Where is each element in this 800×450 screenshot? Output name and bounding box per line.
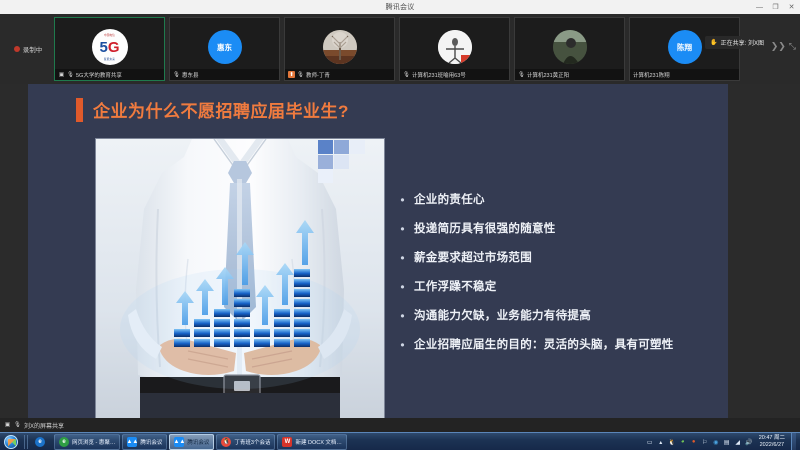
taskbar-item-ie-pinned[interactable]: e [31,434,52,450]
avatar [438,30,472,64]
wps-icon: W [282,437,292,447]
avatar [323,30,357,64]
volume-icon[interactable]: 🔊 [745,438,753,446]
participant-footer: 计算机231陈翔 [630,69,739,80]
meeting-icon: ▲▲ [174,437,184,447]
bullet-text: 投递简历具有很强的随意性 [414,221,556,238]
avatar: 惠东 [208,30,242,64]
participant-tile[interactable]: 🎙 计算机231班喻用63号 [399,17,510,81]
meeting-icon: ▲▲ [127,437,137,447]
participant-name: 惠东县 [182,71,199,79]
decor-square [318,155,333,169]
decor-square [318,140,333,154]
title-accent-bar [76,98,83,122]
participant-footer: 🎙 惠东县 [170,69,279,80]
hand-icon: ✋ [710,39,717,46]
participant-footer: ⬆ 🎙 教师-丁青 [285,69,394,80]
participant-name: 5G大学的教育共享 [76,71,122,79]
bullet-text: 工作浮躁不稳定 [414,279,497,296]
taskbar-item-meeting[interactable]: ▲▲ 腾讯会议 [122,434,167,450]
close-button[interactable]: ✕ [787,4,796,11]
person-photo [553,30,587,64]
bullet-text: 薪金要求超过市场范围 [414,250,532,267]
list-item: • 投递简历具有很强的随意性 [400,221,710,238]
maximize-button[interactable]: ❐ [771,4,780,11]
sync-icon[interactable]: ◉ [712,438,720,446]
list-item: • 企业招聘应届生的目的：灵活的头脑，具有可塑性 [400,337,710,354]
participant-footer: ▣ 🎙 5G大学的教育共享 [55,69,164,80]
video-icon: ▣ [4,422,11,429]
taskbar-item-qq[interactable]: 🐧 丁青班3个会话 [216,434,275,450]
taskbar-item-label: 网页浏览 - 惠聚… [72,438,115,446]
recording-indicator: 录制中 [2,16,54,82]
share-status-bar: ▣ 🎙 刘X的屏幕共享 [0,418,800,432]
window-title: 腾讯会议 [386,2,415,12]
person-photo [438,30,472,64]
bullet-dot-icon: • [400,221,405,237]
usb-icon[interactable]: ● [690,438,698,446]
participant-strip: 录制中 中国电信 5G 赋能未来 ▣ 🎙 5G大学的教育共享 惠东 [0,14,800,84]
presentation-slide: 企业为什么不愿招聘应届毕业生? [28,84,728,432]
windows-logo-icon [4,435,18,449]
minimize-button[interactable]: — [755,4,764,11]
ie-icon: e [59,437,69,447]
avatar [553,30,587,64]
mic-muted-icon: 🎙 [173,71,180,78]
qq-icon[interactable]: 🐧 [668,438,676,446]
battery-icon[interactable]: ▴ [657,438,665,446]
logo-5g-icon: 中国电信 5G 赋能未来 [92,29,128,65]
list-item: • 沟通能力欠缺，业务能力有待提高 [400,308,710,325]
show-hidden-icon[interactable]: ▭ [646,438,654,446]
bullet-text: 企业的责任心 [414,192,485,209]
slide-title: 企业为什么不愿招聘应届毕业生? [93,97,349,122]
sharing-icon: ⬆ [288,71,295,78]
bullet-dot-icon: • [400,279,405,295]
chevron-right-icon[interactable]: ❯❯ [771,42,786,51]
bullet-dot-icon: • [400,250,405,266]
participant-tile[interactable]: 陈翔 计算机231陈翔 [629,17,740,81]
decor-square [334,140,349,154]
slide-bullet-list: • 企业的责任心 • 投递简历具有很强的随意性 • 薪金要求超过市场范围 • 工… [400,192,710,366]
shared-screen-stage: 企业为什么不愿招聘应届毕业生? [0,84,800,432]
taskbar-item-label: 腾讯会议 [187,438,209,446]
record-dot-icon [14,46,20,52]
taskbar-item-label: 新建 DOCX 文档… [295,438,341,446]
ie-icon: e [35,437,45,447]
mic-muted-icon: 🎙 [14,422,21,429]
decor-square [350,140,365,154]
participant-tile[interactable]: 惠东 🎙 惠东县 [169,17,280,81]
sharing-toast: ✋ 正在共享: 刘X图 [705,36,769,49]
decor-square [318,169,333,183]
list-item: • 企业的责任心 [400,192,710,209]
tree-photo [323,30,357,64]
bullet-text: 沟通能力欠缺，业务能力有待提高 [414,308,591,325]
window-controls: — ❐ ✕ [755,0,796,14]
taskbar-grip[interactable] [24,435,29,449]
logo-five: 5 [99,40,107,55]
participant-name: 计算机231陈翔 [633,71,670,79]
taskbar-item-label: 腾讯会议 [140,438,162,446]
network-icon[interactable]: ◢ [734,438,742,446]
clock-date: 2022/6/27 [760,442,784,449]
avatar: 陈翔 [668,30,702,64]
clock-time: 20:47 周二 [759,435,785,442]
start-button[interactable] [0,433,22,450]
logo-g: G [108,40,120,55]
list-item: • 薪金要求超过市场范围 [400,250,710,267]
logo-bottom-text: 赋能未来 [92,57,128,61]
participant-tile[interactable]: 中国电信 5G 赋能未来 ▣ 🎙 5G大学的教育共享 [54,17,165,81]
list-item: • 工作浮躁不稳定 [400,279,710,296]
participant-footer: 🎙 计算机231黄正阳 [515,69,624,80]
mic-muted-icon: 🎙 [403,71,410,78]
decor-square [334,155,349,169]
printer-icon[interactable]: ▤ [723,438,731,446]
participant-tile[interactable]: 🎙 计算机231黄正阳 [514,17,625,81]
tencent-meeting-window: 腾讯会议 — ❐ ✕ 录制中 中国电信 5G 赋能未来 ▣ 🎙 5G [0,0,800,450]
slide-title-row: 企业为什么不愿招聘应届毕业生? [76,97,349,122]
windows-taskbar: e e 网页浏览 - 惠聚… ▲▲ 腾讯会议 ▲▲ 腾讯会议 🐧 丁青班3个会话… [0,432,800,450]
participant-name: 计算机231班喻用63号 [412,71,466,79]
flag-icon[interactable]: ⚐ [701,438,709,446]
system-tray: ▭ ▴ 🐧 ◕ ● ⚐ ◉ ▤ ◢ 🔊 20:47 周二 2022/6/27 [646,433,800,450]
strip-nav[interactable]: ❯❯ ⤡ [771,42,796,51]
share-status-text: 刘X的屏幕共享 [24,421,64,430]
logo-top-text: 中国电信 [92,33,128,37]
taskbar-item-wps[interactable]: W 新建 DOCX 文档… [277,434,346,450]
bullet-text: 企业招聘应届生的目的：灵活的头脑，具有可塑性 [414,337,674,354]
mic-muted-icon: 🎙 [297,71,304,78]
qq-icon: 🐧 [221,437,231,447]
taskbar-item-browser[interactable]: e 网页浏览 - 惠聚… [54,434,120,450]
show-desktop-button[interactable] [791,433,796,450]
recording-label: 录制中 [23,44,43,54]
bullet-dot-icon: • [400,192,405,208]
taskbar-item-meeting-active[interactable]: ▲▲ 腾讯会议 [169,434,214,450]
participant-tile[interactable]: ⬆ 🎙 教师-丁青 [284,17,395,81]
video-icon: ▣ [58,71,65,78]
participant-name: 教师-丁青 [306,71,330,79]
shield-icon[interactable]: ◕ [679,438,687,446]
mic-muted-icon: 🎙 [518,71,525,78]
taskbar-clock[interactable]: 20:47 周二 2022/6/27 [759,435,785,449]
collapse-icon[interactable]: ⤡ [789,42,796,51]
sharing-toast-text: 正在共享: 刘X图 [721,38,764,47]
window-titlebar: 腾讯会议 — ❐ ✕ [0,0,800,14]
bullet-dot-icon: • [400,337,405,353]
bullet-dot-icon: • [400,308,405,324]
participant-name: 计算机231黄正阳 [527,71,569,79]
participant-footer: 🎙 计算机231班喻用63号 [400,69,509,80]
mic-muted-icon: 🎙 [67,71,74,78]
decorative-squares [318,140,366,182]
taskbar-item-label: 丁青班3个会话 [234,438,270,446]
